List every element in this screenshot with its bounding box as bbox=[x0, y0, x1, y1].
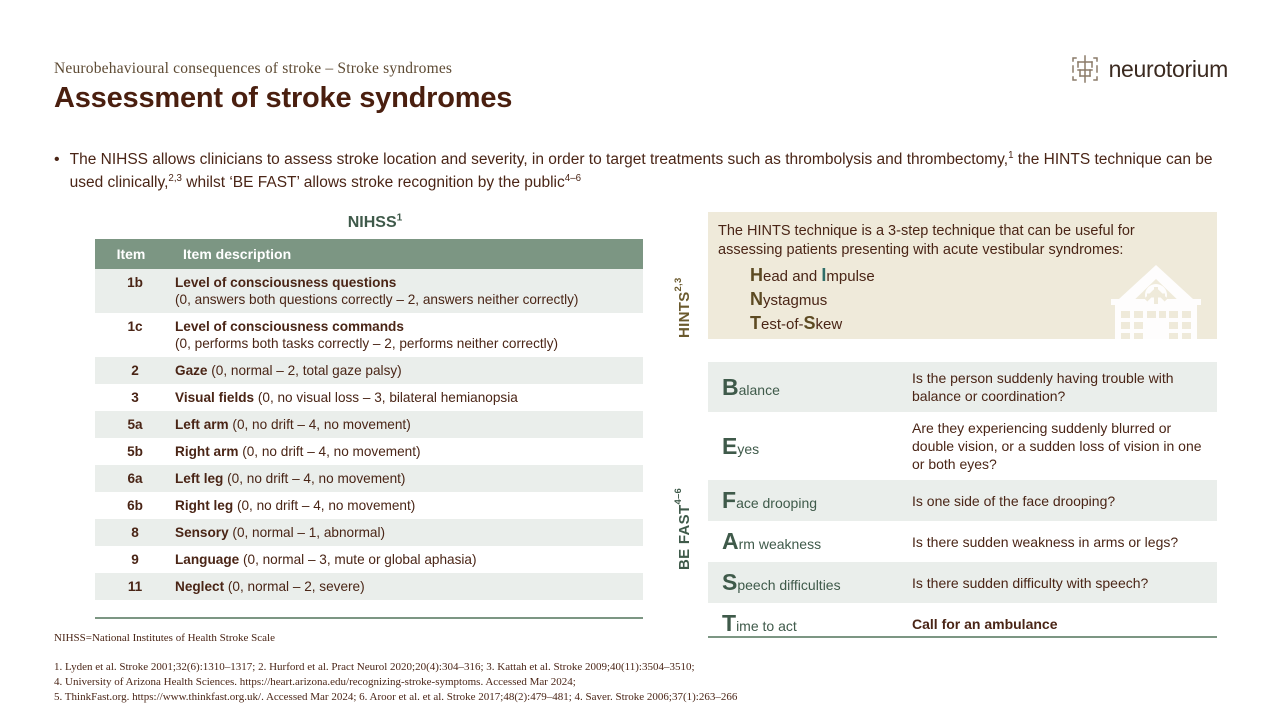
hints-item-list: Head and ImpulseNystagmusTest-of-Skew bbox=[750, 264, 1217, 336]
table-row: 5bRight arm (0, no drift – 4, no movemen… bbox=[95, 438, 643, 465]
befast-term-rest: yes bbox=[737, 441, 759, 457]
nihss-item-description: Level of consciousness commands(0, perfo… bbox=[175, 313, 643, 357]
hints-intro-text: The HINTS technique is a 3-step techniqu… bbox=[708, 212, 1217, 260]
befast-term: Face drooping bbox=[708, 480, 906, 521]
table-row: 6aLeft leg (0, no drift – 4, no movement… bbox=[95, 465, 643, 492]
befast-term: Balance bbox=[708, 362, 906, 412]
hints-item-rest-2: mpulse bbox=[826, 268, 874, 285]
table-row: 8Sensory (0, normal – 1, abnormal) bbox=[95, 519, 643, 546]
nihss-item-name: Right arm bbox=[175, 444, 242, 459]
table-row: EyesAre they experiencing suddenly blurr… bbox=[708, 412, 1217, 480]
hints-item-rest-2: kew bbox=[816, 316, 843, 333]
befast-term-rest: rm weakness bbox=[739, 536, 821, 552]
reference-line: 4. University of Arizona Health Sciences… bbox=[54, 675, 737, 690]
bullet-ref-2: 2,3 bbox=[168, 173, 182, 184]
hints-item-rest: ystagmus bbox=[763, 292, 827, 309]
nihss-item-name: Visual fields bbox=[175, 390, 258, 405]
breadcrumb-eyebrow: Neurobehavioural consequences of stroke … bbox=[54, 60, 452, 78]
nihss-item-code: 6a bbox=[95, 465, 175, 492]
nihss-item-scale: (0, answers both questions correctly – 2… bbox=[175, 291, 635, 308]
nihss-title-text: NIHSS bbox=[348, 214, 397, 231]
hints-item-initial: H bbox=[750, 265, 763, 285]
nihss-item-description: Level of consciousness questions(0, answ… bbox=[175, 269, 643, 313]
nihss-item-scale: (0, no visual loss – 3, bilateral hemian… bbox=[258, 390, 518, 405]
table-row: Speech difficultiesIs there sudden diffi… bbox=[708, 562, 1217, 603]
nihss-item-scale: (0, normal – 1, abnormal) bbox=[232, 525, 385, 540]
befast-label-text: BE FAST bbox=[676, 505, 693, 570]
befast-term-rest: peech difficulties bbox=[737, 577, 840, 593]
logo-wordmark: neurotorium bbox=[1109, 56, 1228, 83]
intro-bullet: • The NIHSS allows clinicians to assess … bbox=[54, 148, 1234, 194]
bullet-ref-3: 4–6 bbox=[565, 173, 581, 184]
nihss-title-ref: 1 bbox=[397, 213, 403, 224]
nihss-table: Item Item description 1bLevel of conscio… bbox=[95, 239, 643, 600]
table-row: BalanceIs the person suddenly having tro… bbox=[708, 362, 1217, 412]
befast-term-initial: B bbox=[722, 374, 739, 400]
befast-term: Arm weakness bbox=[708, 521, 906, 562]
befast-term-rest: ace drooping bbox=[736, 495, 817, 511]
table-row: 11Neglect (0, normal – 2, severe) bbox=[95, 573, 643, 600]
nihss-item-description: Language (0, normal – 3, mute or global … bbox=[175, 546, 643, 573]
befast-body: BalanceIs the person suddenly having tro… bbox=[708, 362, 1217, 644]
nihss-item-description: Right arm (0, no drift – 4, no movement) bbox=[175, 438, 643, 465]
abbreviation-note: NIHSS=National Institutes of Health Stro… bbox=[54, 632, 275, 644]
hints-item: Head and Impulse bbox=[750, 264, 1217, 288]
nihss-item-name: Right leg bbox=[175, 498, 237, 513]
befast-question: Is there sudden difficulty with speech? bbox=[906, 562, 1217, 603]
nihss-header-row: Item Item description bbox=[95, 239, 643, 269]
befast-term-initial: S bbox=[722, 569, 737, 595]
befast-term-initial: T bbox=[722, 610, 736, 636]
bullet-marker: • bbox=[54, 148, 60, 194]
page-title: Assessment of stroke syndromes bbox=[54, 82, 512, 115]
befast-term-rest: alance bbox=[739, 382, 780, 398]
befast-term-initial: F bbox=[722, 487, 736, 513]
nihss-item-description: Gaze (0, normal – 2, total gaze palsy) bbox=[175, 357, 643, 384]
bullet-segment-1: The NIHSS allows clinicians to assess st… bbox=[70, 151, 1008, 168]
nihss-col-description: Item description bbox=[175, 239, 643, 269]
table-row: 6bRight leg (0, no drift – 4, no movemen… bbox=[95, 492, 643, 519]
table-row: 1cLevel of consciousness commands(0, per… bbox=[95, 313, 643, 357]
nihss-item-description: Right leg (0, no drift – 4, no movement) bbox=[175, 492, 643, 519]
nihss-item-name: Left leg bbox=[175, 471, 227, 486]
table-row: Arm weaknessIs there sudden weakness in … bbox=[708, 521, 1217, 562]
befast-term-rest: ime to act bbox=[736, 618, 797, 634]
nihss-item-name: Gaze bbox=[175, 363, 211, 378]
nihss-item-code: 9 bbox=[95, 546, 175, 573]
hints-label-text: HINTS bbox=[676, 292, 693, 339]
befast-bottom-rule bbox=[708, 636, 1217, 638]
bullet-segment-3: whilst ‘BE FAST’ allows stroke recogniti… bbox=[182, 174, 565, 191]
nihss-item-description: Left arm (0, no drift – 4, no movement) bbox=[175, 411, 643, 438]
brand-logo: neurotorium bbox=[1070, 54, 1228, 84]
nihss-item-name: Language bbox=[175, 552, 243, 567]
nihss-item-name: Left arm bbox=[175, 417, 232, 432]
nihss-item-scale: (0, normal – 2, total gaze palsy) bbox=[211, 363, 401, 378]
table-row: 3Visual fields (0, no visual loss – 3, b… bbox=[95, 384, 643, 411]
reference-line: 5. ThinkFast.org. https://www.thinkfast.… bbox=[54, 690, 737, 705]
befast-table: BalanceIs the person suddenly having tro… bbox=[708, 362, 1217, 644]
hints-item-rest: ead and bbox=[763, 268, 821, 285]
befast-label-ref: 4–6 bbox=[673, 488, 684, 505]
hints-item-initial: T bbox=[750, 313, 761, 333]
nihss-item-description: Left leg (0, no drift – 4, no movement) bbox=[175, 465, 643, 492]
befast-question: Is one side of the face drooping? bbox=[906, 480, 1217, 521]
nihss-item-scale: (0, no drift – 4, no movement) bbox=[242, 444, 420, 459]
nihss-item-code: 1c bbox=[95, 313, 175, 357]
neurotorium-grid-icon bbox=[1070, 54, 1100, 84]
nihss-item-code: 5a bbox=[95, 411, 175, 438]
nihss-item-name: Neglect bbox=[175, 579, 228, 594]
nihss-item-scale: (0, normal – 3, mute or global aphasia) bbox=[243, 552, 476, 567]
nihss-col-item: Item bbox=[95, 239, 175, 269]
nihss-table-title: NIHSS1 bbox=[95, 214, 655, 232]
befast-term: Speech difficulties bbox=[708, 562, 906, 603]
reference-list: 1. Lyden et al. Stroke 2001;32(6):1310–1… bbox=[54, 660, 737, 705]
nihss-bottom-rule bbox=[95, 617, 643, 619]
nihss-item-code: 8 bbox=[95, 519, 175, 546]
nihss-item-code: 11 bbox=[95, 573, 175, 600]
nihss-item-code: 3 bbox=[95, 384, 175, 411]
table-row: Face droopingIs one side of the face dro… bbox=[708, 480, 1217, 521]
nihss-item-description: Visual fields (0, no visual loss – 3, bi… bbox=[175, 384, 643, 411]
table-row: 2Gaze (0, normal – 2, total gaze palsy) bbox=[95, 357, 643, 384]
hints-item-initial: N bbox=[750, 289, 763, 309]
befast-question: Are they experiencing suddenly blurred o… bbox=[906, 412, 1217, 480]
nihss-item-code: 2 bbox=[95, 357, 175, 384]
nihss-item-name: Level of consciousness questions bbox=[175, 275, 396, 290]
befast-term-initial: A bbox=[722, 528, 739, 554]
befast-term-initial: E bbox=[722, 433, 737, 459]
befast-question: Is there sudden weakness in arms or legs… bbox=[906, 521, 1217, 562]
hints-item-rest: est-of- bbox=[761, 316, 804, 333]
hints-label-ref: 2,3 bbox=[673, 277, 684, 291]
nihss-item-scale: (0, no drift – 4, no movement) bbox=[232, 417, 410, 432]
hints-vertical-label: HINTS2,3 bbox=[676, 238, 693, 338]
hints-item-initial-2: S bbox=[804, 313, 816, 333]
nihss-item-code: 1b bbox=[95, 269, 175, 313]
nihss-body: 1bLevel of consciousness questions(0, an… bbox=[95, 269, 643, 600]
hints-item: Nystagmus bbox=[750, 288, 1217, 312]
nihss-item-name: Level of consciousness commands bbox=[175, 319, 404, 334]
bullet-text: The NIHSS allows clinicians to assess st… bbox=[70, 148, 1234, 194]
nihss-item-scale: (0, no drift – 4, no movement) bbox=[237, 498, 415, 513]
hints-item: Test-of-Skew bbox=[750, 312, 1217, 336]
table-row: 5aLeft arm (0, no drift – 4, no movement… bbox=[95, 411, 643, 438]
reference-line: 1. Lyden et al. Stroke 2001;32(6):1310–1… bbox=[54, 660, 737, 675]
nihss-item-description: Sensory (0, normal – 1, abnormal) bbox=[175, 519, 643, 546]
nihss-item-code: 6b bbox=[95, 492, 175, 519]
nihss-item-code: 5b bbox=[95, 438, 175, 465]
nihss-item-scale: (0, normal – 2, severe) bbox=[228, 579, 365, 594]
table-row: 1bLevel of consciousness questions(0, an… bbox=[95, 269, 643, 313]
nihss-item-scale: (0, no drift – 4, no movement) bbox=[227, 471, 405, 486]
table-row: 9Language (0, normal – 3, mute or global… bbox=[95, 546, 643, 573]
befast-term: Eyes bbox=[708, 412, 906, 480]
hints-panel: The HINTS technique is a 3-step techniqu… bbox=[708, 212, 1217, 339]
nihss-item-description: Neglect (0, normal – 2, severe) bbox=[175, 573, 643, 600]
nihss-item-name: Sensory bbox=[175, 525, 232, 540]
befast-vertical-label: BE FAST4–6 bbox=[676, 460, 693, 570]
nihss-item-scale: (0, performs both tasks correctly – 2, p… bbox=[175, 335, 635, 352]
befast-question: Is the person suddenly having trouble wi… bbox=[906, 362, 1217, 412]
